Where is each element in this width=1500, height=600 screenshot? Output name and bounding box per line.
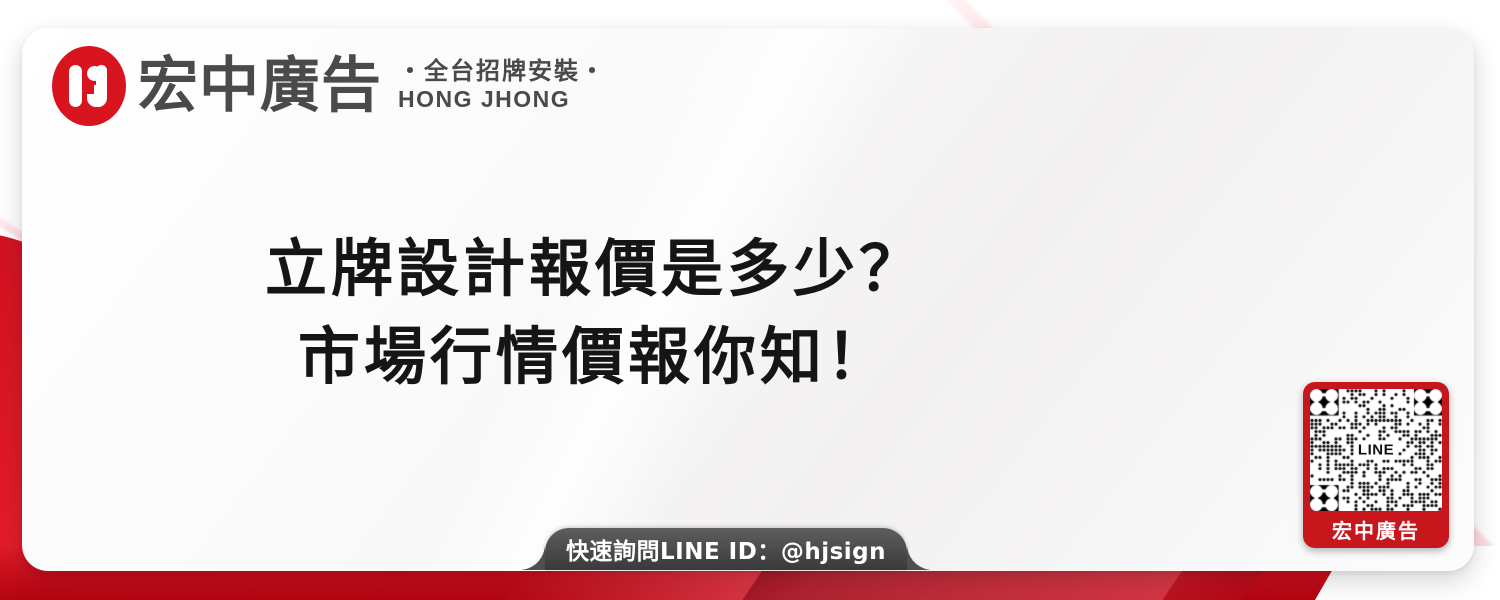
headline-block: 立牌設計報價是多少？ 市場行情價報你知！ [0,225,1190,401]
logo-subtext: ・全台招牌安裝・ HONG JHONG [398,58,606,114]
qr-center-label: LINE [1354,441,1398,460]
headline-line-1: 立牌設計報價是多少？ [0,225,1190,313]
logo-company-name-en: HONG JHONG [398,86,606,112]
headline-line-2: 市場行情價報你知！ [0,313,1190,401]
line-qr-block[interactable]: LINE 宏中廣告 [1303,382,1449,548]
logo-tagline-cn: ・全台招牌安裝・ [398,58,606,86]
brand-logo[interactable]: 宏中廣告 ・全台招牌安裝・ HONG JHONG [52,46,606,126]
line-id-ribbon[interactable]: 快速詢問LINE ID：@hjsign [545,528,907,570]
monogram-j-hook [87,85,107,107]
monogram-left-bar [69,65,82,107]
logo-company-name-cn: 宏中廣告 [138,56,382,116]
qr-code[interactable]: LINE [1310,389,1442,511]
qr-caption: 宏中廣告 [1310,511,1442,547]
promo-banner: 宏中廣告 ・全台招牌安裝・ HONG JHONG 立牌設計報價是多少？ 市場行情… [0,0,1500,600]
hj-monogram-icon [52,46,126,126]
line-id-ribbon-text: 快速詢問LINE ID：@hjsign [566,532,886,566]
